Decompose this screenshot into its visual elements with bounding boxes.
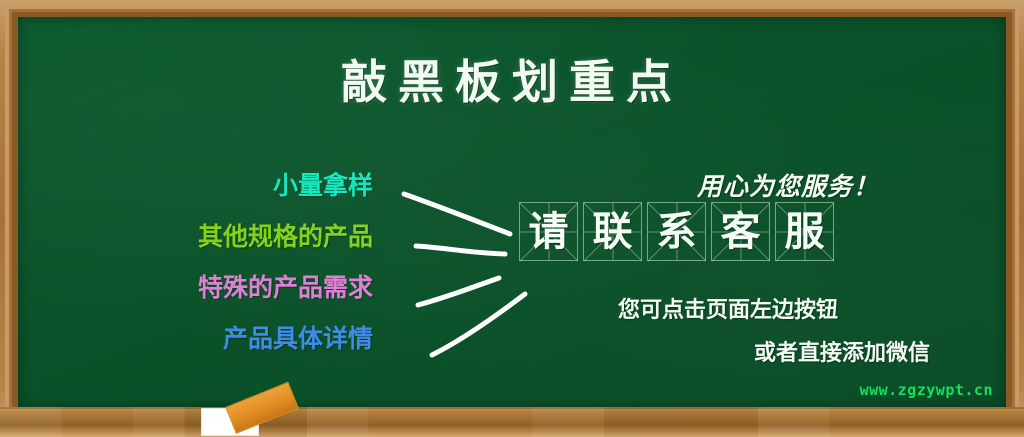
grid-cell: 联 [583, 202, 642, 261]
chalk-ledge [0, 407, 1024, 437]
note-add-wechat: 或者直接添加微信 [518, 335, 938, 367]
ledge-wood-grain [0, 407, 1024, 437]
list-item[interactable]: 其他规格的产品 [18, 211, 373, 262]
list-item[interactable]: 产品具体详情 [18, 313, 373, 364]
grid-word-contact-service: 请联系客服 [519, 202, 834, 261]
grid-cell: 系 [647, 202, 706, 261]
chalk-arrow-line [418, 278, 499, 305]
grid-cell: 请 [519, 202, 578, 261]
grid-cell: 客 [711, 202, 770, 261]
grid-character: 请 [520, 203, 577, 260]
service-slogan: 用心为您服务！ [638, 167, 938, 203]
grid-character: 联 [584, 203, 641, 260]
grid-cell: 服 [775, 202, 834, 261]
list-item[interactable]: 小量拿样 [18, 160, 373, 211]
left-item-list: 小量拿样 其他规格的产品 特殊的产品需求 产品具体详情 [18, 160, 373, 364]
page-title: 敲黑板划重点 [18, 46, 1006, 112]
list-item[interactable]: 特殊的产品需求 [18, 262, 373, 313]
chalk-arrow-line [432, 294, 525, 355]
site-watermark: www.zgzywpt.cn [860, 381, 993, 399]
chalkboard-surface: 敲黑板划重点 小量拿样 其他规格的产品 特殊的产品需求 产品具体详情 用心为您服… [18, 17, 1006, 408]
chalk-arrow-line [416, 246, 505, 254]
grid-character: 客 [712, 203, 769, 260]
grid-character: 服 [776, 203, 833, 260]
grid-character: 系 [648, 203, 705, 260]
blackboard-scene: 敲黑板划重点 小量拿样 其他规格的产品 特殊的产品需求 产品具体详情 用心为您服… [0, 0, 1024, 437]
note-click-left-button: 您可点击页面左边按钮 [518, 292, 938, 324]
chalk-arrow-line [404, 194, 510, 234]
